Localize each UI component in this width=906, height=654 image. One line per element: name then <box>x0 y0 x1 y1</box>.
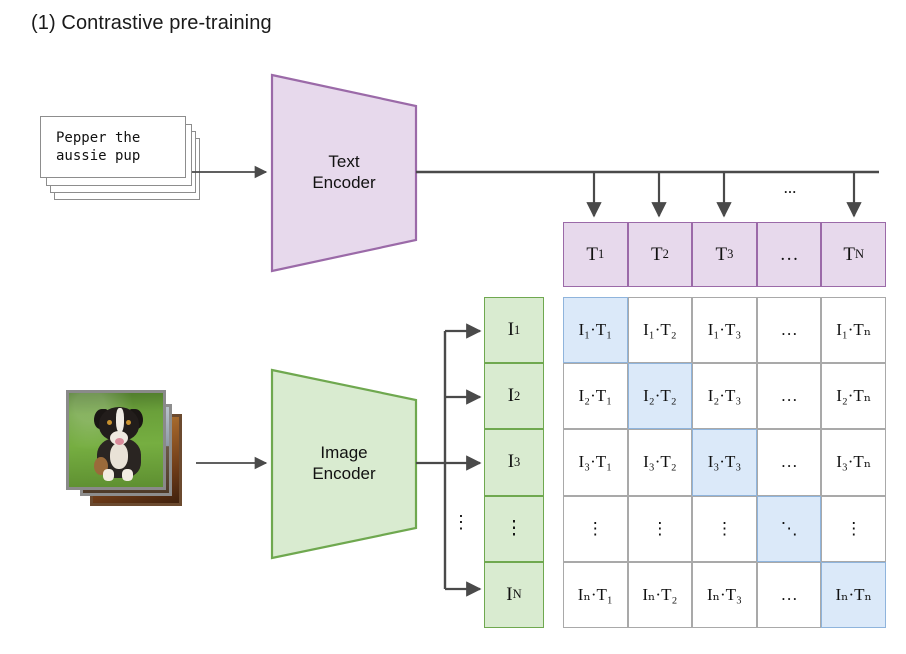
text-encoder-label: Text Encoder <box>270 151 418 193</box>
image-input-stack <box>66 390 190 514</box>
matrix-cell-r2-c1[interactable]: I₂·T₁ <box>563 363 628 429</box>
matrix-cell-r4-c5[interactable]: ⋮ <box>821 496 886 562</box>
image-embedding-cell-2[interactable]: I2 <box>484 363 544 429</box>
matrix-cell-r3-c5[interactable]: I₃·Tₙ <box>821 429 886 495</box>
image-encoder-label-line-2: Encoder <box>270 463 418 484</box>
matrix-cell-r3-c3[interactable]: I₃·T₃ <box>692 429 757 495</box>
matrix-cell-r3-c1[interactable]: I₃·T₁ <box>563 429 628 495</box>
text-encoder-label-line-1: Text <box>270 151 418 172</box>
text-embedding-cell-3[interactable]: T3 <box>692 222 757 287</box>
matrix-cell-r1-c3[interactable]: I₁·T₃ <box>692 297 757 363</box>
image-card-front-puppy <box>66 390 166 490</box>
text-embedding-cell-5[interactable]: TN <box>821 222 886 287</box>
matrix-cell-r4-c3[interactable]: ⋮ <box>692 496 757 562</box>
text-input-stack: Pepper the aussie pup <box>40 116 210 208</box>
matrix-cell-r5-c5[interactable]: Iₙ·Tₙ <box>821 562 886 628</box>
matrix-cell-r5-c2[interactable]: Iₙ·T₂ <box>628 562 693 628</box>
image-embedding-cell-5[interactable]: IN <box>484 562 544 628</box>
puppy-paw-left <box>103 469 114 481</box>
image-embedding-cell-3[interactable]: I3 <box>484 429 544 495</box>
matrix-cell-r5-c3[interactable]: Iₙ·T₃ <box>692 562 757 628</box>
diagram-canvas: (1) Contrastive pre-training Pepper the … <box>0 0 906 654</box>
matrix-cell-r5-c1[interactable]: Iₙ·T₁ <box>563 562 628 628</box>
text-embedding-cell-4[interactable]: … <box>757 222 822 287</box>
matrix-cell-r1-c4[interactable]: … <box>757 297 822 363</box>
image-embedding-cell-1[interactable]: I1 <box>484 297 544 363</box>
matrix-cell-r1-c5[interactable]: I₁·Tₙ <box>821 297 886 363</box>
matrix-cell-r2-c5[interactable]: I₂·Tₙ <box>821 363 886 429</box>
matrix-cell-r4-c4[interactable]: ⋱ <box>757 496 822 562</box>
page-title: (1) Contrastive pre-training <box>31 12 272 35</box>
matrix-cell-r3-c4[interactable]: … <box>757 429 822 495</box>
text-embedding-cell-1[interactable]: T1 <box>563 222 628 287</box>
puppy-eye-right <box>126 420 131 425</box>
matrix-cell-r1-c1[interactable]: I₁·T₁ <box>563 297 628 363</box>
image-embedding-cell-4[interactable]: ⋮ <box>484 496 544 562</box>
image-encoder-label: Image Encoder <box>270 442 418 484</box>
matrix-cell-r2-c4[interactable]: … <box>757 363 822 429</box>
text-caption: Pepper the aussie pup <box>40 116 186 178</box>
matrix-cell-r4-c1[interactable]: ⋮ <box>563 496 628 562</box>
text-embedding-ellipsis-above: ... <box>770 176 810 200</box>
text-caption-line-1: Pepper the <box>56 129 140 147</box>
puppy-blaze <box>116 408 124 432</box>
matrix-cell-r3-c2[interactable]: I₃·T₂ <box>628 429 693 495</box>
text-encoder-label-line-2: Encoder <box>270 172 418 193</box>
text-caption-line-2: aussie pup <box>56 147 140 165</box>
matrix-cell-r4-c2[interactable]: ⋮ <box>628 496 693 562</box>
image-branch-ellipsis: ⋮ <box>452 508 470 536</box>
matrix-cell-r2-c2[interactable]: I₂·T₂ <box>628 363 693 429</box>
matrix-cell-r2-c3[interactable]: I₂·T₃ <box>692 363 757 429</box>
puppy-eye-left <box>107 420 112 425</box>
matrix-cell-r1-c2[interactable]: I₁·T₂ <box>628 297 693 363</box>
puppy-tongue <box>115 438 124 445</box>
text-embedding-cell-2[interactable]: T2 <box>628 222 693 287</box>
puppy-paw-right <box>122 469 133 481</box>
puppy-chest <box>110 443 128 469</box>
image-encoder-label-line-1: Image <box>270 442 418 463</box>
image-encoder-block[interactable]: Image Encoder <box>270 368 418 560</box>
text-encoder-block[interactable]: Text Encoder <box>270 73 418 273</box>
matrix-cell-r5-c4[interactable]: … <box>757 562 822 628</box>
